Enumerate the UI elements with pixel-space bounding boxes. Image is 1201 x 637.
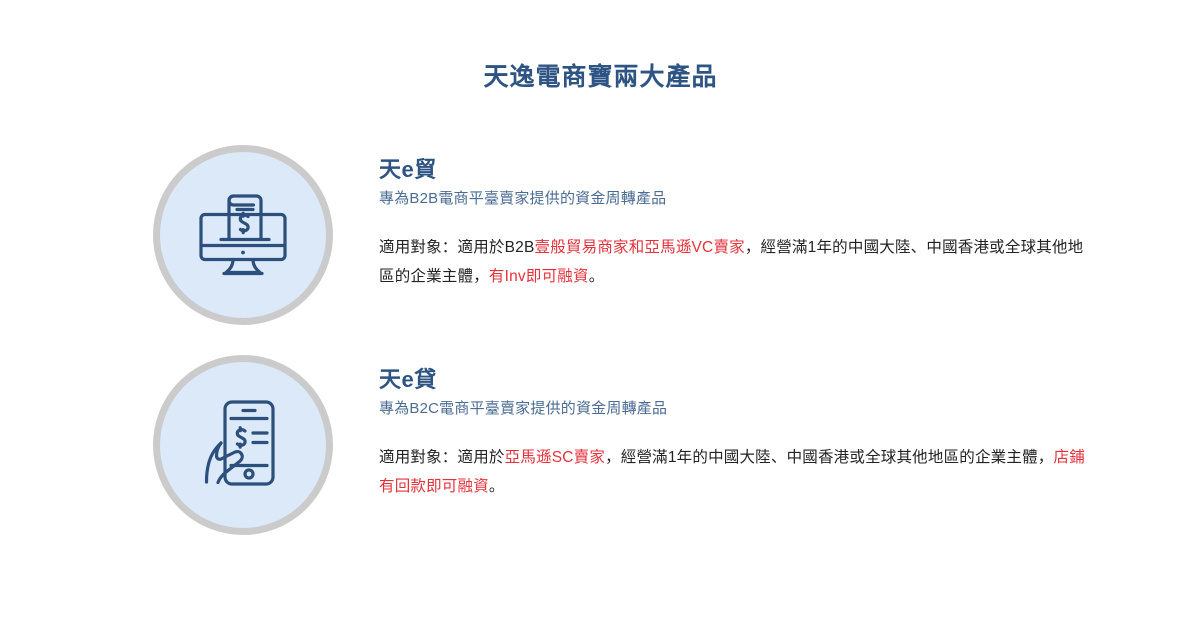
- product-text-column: 天e貿 專為B2B電商平臺賣家提供的資金周轉產品 適用對象：適用於B2B壹般貿易…: [379, 155, 1099, 291]
- desc-highlight: 亞馬遜SC賣家: [505, 449, 605, 466]
- desc-highlight: 壹般貿易商家和亞馬遜VC賣家: [535, 239, 745, 256]
- desc-segment: 適用於B2B: [458, 239, 535, 256]
- desc-label: 適用對象：: [379, 449, 458, 466]
- desktop-invoice-dollar-icon: [191, 183, 295, 287]
- product-subtitle: 專為B2B電商平臺賣家提供的資金周轉產品: [379, 187, 1099, 211]
- product-text-column: 天e貸 專為B2C電商平臺賣家提供的資金周轉產品 適用對象：適用於亞馬遜SC賣家…: [379, 365, 1099, 501]
- desc-segment: 適用於: [458, 449, 505, 466]
- desc-segment: 。: [489, 478, 505, 495]
- product-subtitle: 專為B2C電商平臺賣家提供的資金周轉產品: [379, 397, 1099, 421]
- product-name: 天e貿: [379, 155, 1099, 185]
- product-block-tianyimao: 天e貿 專為B2B電商平臺賣家提供的資金周轉產品 適用對象：適用於B2B壹般貿易…: [0, 145, 1201, 345]
- desc-segment: ，經營滿1年的中國大陸、中國香港或全球其他地區的企業主體，: [605, 449, 1053, 466]
- hand-holding-phone-dollar-icon: [191, 393, 295, 497]
- desc-segment: 。: [589, 268, 605, 285]
- product-icon-badge: [153, 355, 333, 535]
- desc-highlight: 有Inv即可融資: [489, 268, 589, 285]
- product-icon-badge: [153, 145, 333, 325]
- page-title: 天逸電商寶兩大產品: [0, 60, 1201, 94]
- product-block-tianyidai: 天e貸 專為B2C電商平臺賣家提供的資金周轉產品 適用對象：適用於亞馬遜SC賣家…: [0, 355, 1201, 555]
- product-description: 適用對象：適用於亞馬遜SC賣家，經營滿1年的中國大陸、中國香港或全球其他地區的企…: [379, 443, 1099, 501]
- product-description: 適用對象：適用於B2B壹般貿易商家和亞馬遜VC賣家，經營滿1年的中國大陸、中國香…: [379, 233, 1099, 291]
- desc-label: 適用對象：: [379, 239, 458, 256]
- product-name: 天e貸: [379, 365, 1099, 395]
